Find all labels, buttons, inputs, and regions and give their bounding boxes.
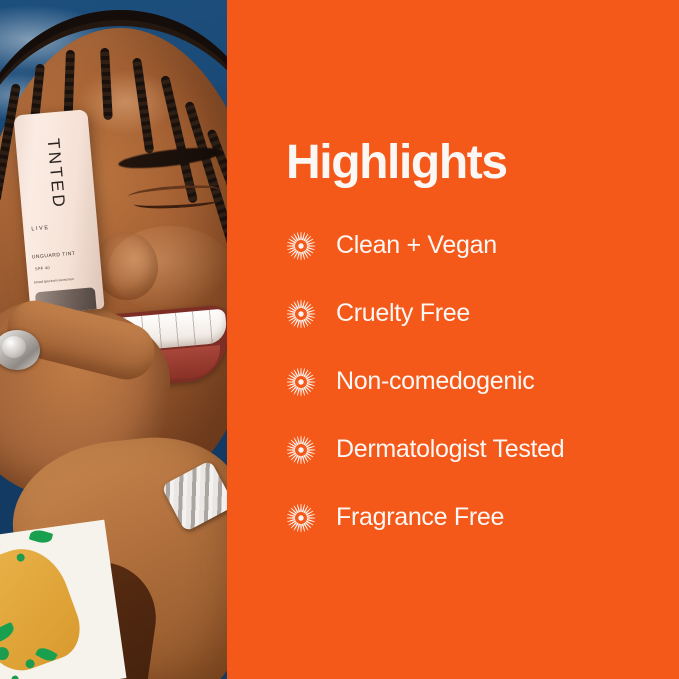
tube-line-text: LIVE xyxy=(31,225,50,233)
nose xyxy=(96,232,158,300)
sunburst-icon xyxy=(286,503,316,533)
list-item: Clean + Vegan xyxy=(286,228,666,264)
list-item: Fragrance Free xyxy=(286,500,666,536)
product-highlights-banner: TNTED LIVE UNGUARD TINT SPF 40 broad spe… xyxy=(0,0,679,679)
tube-descriptor: broad spectrum sunscreen xyxy=(34,277,74,285)
tube-brand-text: TNTED xyxy=(43,138,69,211)
list-item-label: Dermatologist Tested xyxy=(336,436,564,464)
sunburst-icon xyxy=(286,367,316,397)
product-lifestyle-photo: TNTED LIVE UNGUARD TINT SPF 40 broad spe… xyxy=(0,0,227,679)
tube-product-name: UNGUARD TINT xyxy=(32,251,76,261)
patterned-shirt xyxy=(0,520,126,679)
page-title: Highlights xyxy=(286,139,507,187)
list-item-label: Fragrance Free xyxy=(336,504,504,532)
tube-spf: SPF 40 xyxy=(35,265,51,271)
list-item: Non-comedogenic xyxy=(286,364,666,400)
list-item-label: Clean + Vegan xyxy=(336,232,497,260)
list-item-label: Non-comedogenic xyxy=(336,368,534,396)
highlights-panel: Highlights xyxy=(227,0,679,679)
sunburst-icon xyxy=(286,299,316,329)
sunburst-icon xyxy=(286,231,316,261)
list-item: Dermatologist Tested xyxy=(286,432,666,468)
list-item-label: Cruelty Free xyxy=(336,300,470,328)
sunburst-icon xyxy=(286,435,316,465)
highlights-list: Clean + Vegan xyxy=(286,228,666,536)
list-item: Cruelty Free xyxy=(286,296,666,332)
